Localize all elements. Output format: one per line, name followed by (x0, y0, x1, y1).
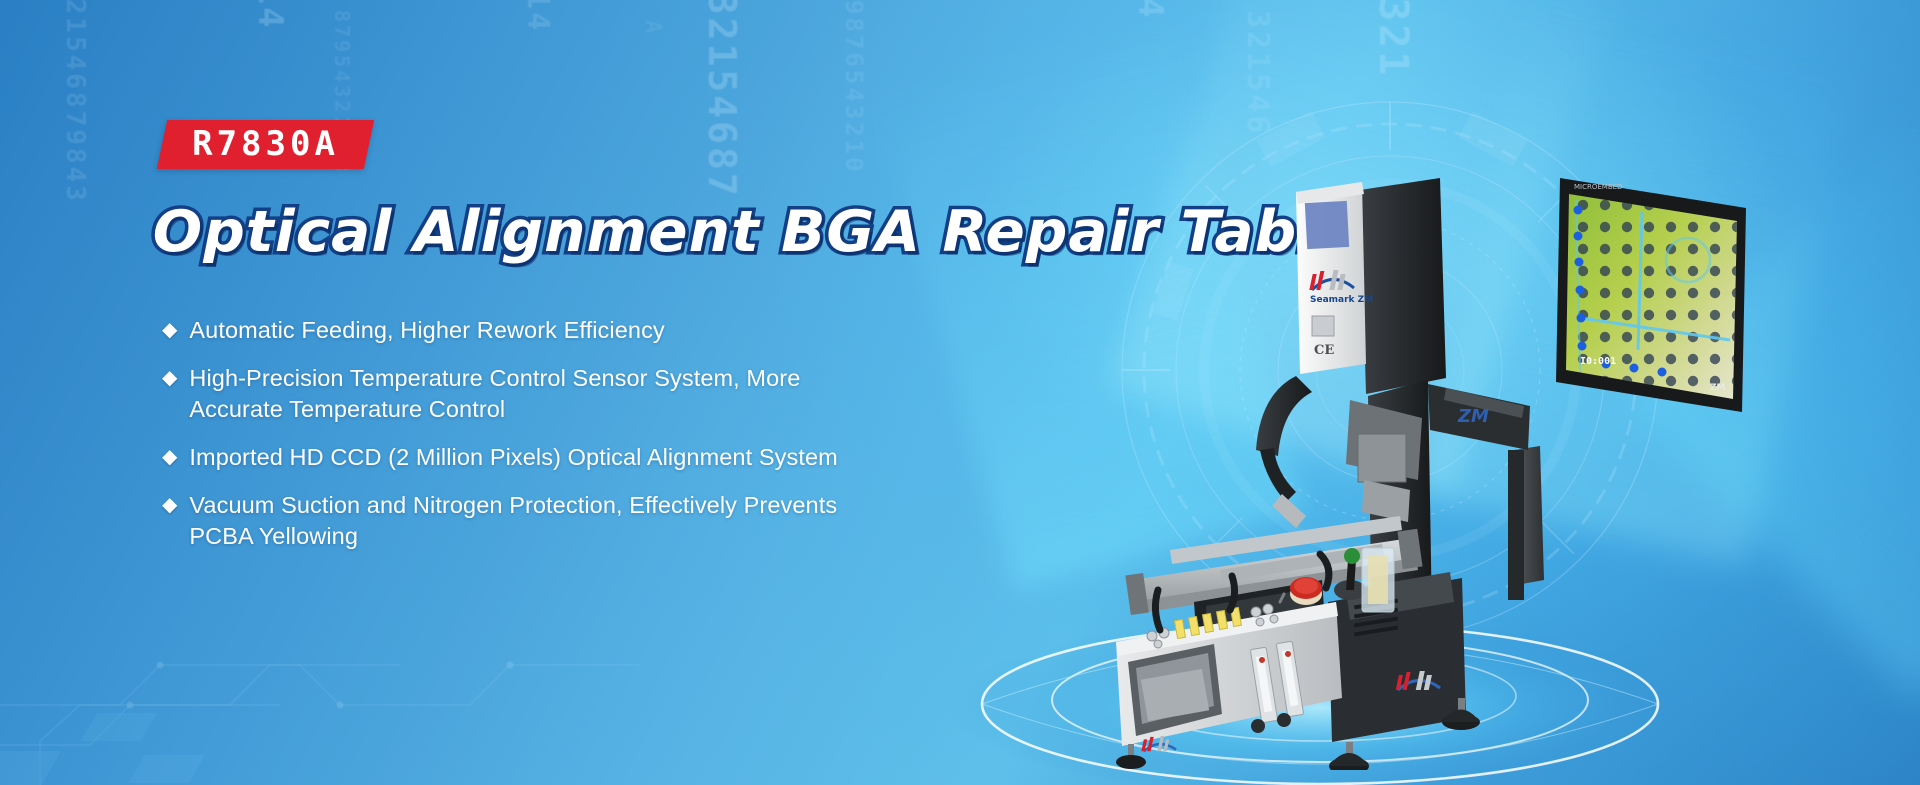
side-brand-text: ZM (1457, 406, 1489, 427)
product-banner: 32154687984301487954321438014A0132154687… (0, 0, 1920, 785)
background-digit-column: 014 (250, 0, 290, 30)
diamond-bullet-icon: ◆ (162, 315, 177, 346)
tool-pouch (1362, 548, 1394, 612)
list-item: ◆ Vacuum Suction and Nitrogen Protection… (162, 490, 1082, 552)
banner-copy: R7830A Optical Alignment BGA Repair Tabl… (162, 120, 1082, 569)
product-monitor: MICROEMBED I0:001 ZM (1508, 178, 1746, 600)
background-digit-column: 321546879843 (60, 0, 90, 204)
brand-logo-text: Seamark ZM (1310, 295, 1373, 305)
monitor-screen-readout: I0:001 (1580, 356, 1616, 367)
model-badge: R7830A (157, 120, 374, 169)
feature-text: Automatic Feeding, Higher Rework Efficie… (189, 315, 664, 346)
diamond-bullet-icon: ◆ (162, 363, 177, 394)
feature-text: High-Precision Temperature Control Senso… (189, 363, 869, 425)
background-digit-column: 4321 (1370, 0, 1416, 78)
background-digit-column: 321546 (1240, 10, 1275, 136)
model-badge-label: R7830A (192, 127, 339, 161)
monitor-screen-corner-label: ZM (1710, 383, 1726, 393)
monitor-bezel-label: MICROEMBED (1574, 183, 1622, 191)
product-image-bga-repair-machine: MICROEMBED I0:001 ZM (1110, 150, 1750, 770)
feature-text: Imported HD CCD (2 Million Pixels) Optic… (189, 442, 837, 473)
list-item: ◆ High-Precision Temperature Control Sen… (162, 363, 1082, 425)
list-item: ◆ Automatic Feeding, Higher Rework Effic… (162, 315, 1082, 346)
feature-text: Vacuum Suction and Nitrogen Protection, … (189, 490, 869, 552)
diamond-bullet-icon: ◆ (162, 442, 177, 473)
list-item: ◆ Imported HD CCD (2 Million Pixels) Opt… (162, 442, 1082, 473)
ce-mark-label: CE (1314, 343, 1334, 358)
background-digit-column: A (640, 20, 665, 36)
background-digit-column: 014 (1130, 0, 1170, 20)
page-title: Optical Alignment BGA Repair Table (153, 203, 1091, 263)
diamond-bullet-icon: ◆ (162, 490, 177, 521)
background-digit-column: 014 (520, 0, 555, 33)
emergency-stop-button[interactable] (1290, 577, 1322, 605)
feature-list: ◆ Automatic Feeding, Higher Rework Effic… (162, 315, 1082, 552)
